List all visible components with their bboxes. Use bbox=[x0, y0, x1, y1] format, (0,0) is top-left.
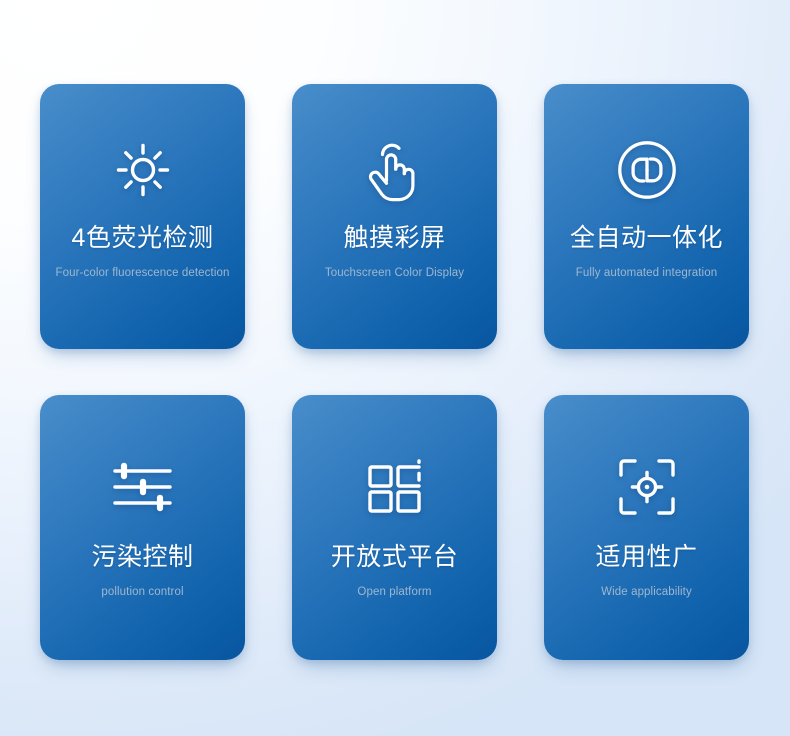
feature-card-open-platform[interactable]: 开放式平台 Open platform bbox=[292, 395, 497, 660]
feature-card-wide-applicability[interactable]: 适用性广 Wide applicability bbox=[544, 395, 749, 660]
feature-cards-page: 4色荧光检测 Four-color fluorescence detection bbox=[0, 0, 790, 736]
feature-subtitle: pollution control bbox=[101, 586, 183, 600]
sliders-icon bbox=[109, 453, 177, 521]
feature-card-touchscreen[interactable]: 触摸彩屏 Touchscreen Color Display bbox=[292, 84, 497, 349]
feature-title: 全自动一体化 bbox=[570, 224, 723, 253]
feature-title: 适用性广 bbox=[595, 543, 697, 572]
feature-title: 触摸彩屏 bbox=[343, 224, 445, 253]
feature-subtitle: Touchscreen Color Display bbox=[325, 267, 464, 281]
focus-target-icon bbox=[613, 453, 681, 521]
sun-icon bbox=[109, 136, 177, 204]
feature-card-pollution-control[interactable]: 污染控制 pollution control bbox=[40, 395, 245, 660]
feature-subtitle: Open platform bbox=[357, 586, 431, 600]
open-grid-icon bbox=[361, 453, 429, 521]
feature-title: 开放式平台 bbox=[331, 543, 459, 572]
feature-subtitle: Four-color fluorescence detection bbox=[56, 267, 230, 281]
feature-title: 4色荧光检测 bbox=[72, 224, 214, 253]
feature-title: 污染控制 bbox=[91, 543, 193, 572]
feature-card-fluorescence[interactable]: 4色荧光检测 Four-color fluorescence detection bbox=[40, 84, 245, 349]
feature-grid: 4色荧光检测 Four-color fluorescence detection bbox=[40, 84, 750, 660]
feature-subtitle: Wide applicability bbox=[601, 586, 692, 600]
touch-hand-icon bbox=[361, 136, 429, 204]
auto-cycle-icon bbox=[613, 136, 681, 204]
feature-card-automation[interactable]: 全自动一体化 Fully automated integration bbox=[544, 84, 749, 349]
feature-subtitle: Fully automated integration bbox=[576, 267, 717, 281]
